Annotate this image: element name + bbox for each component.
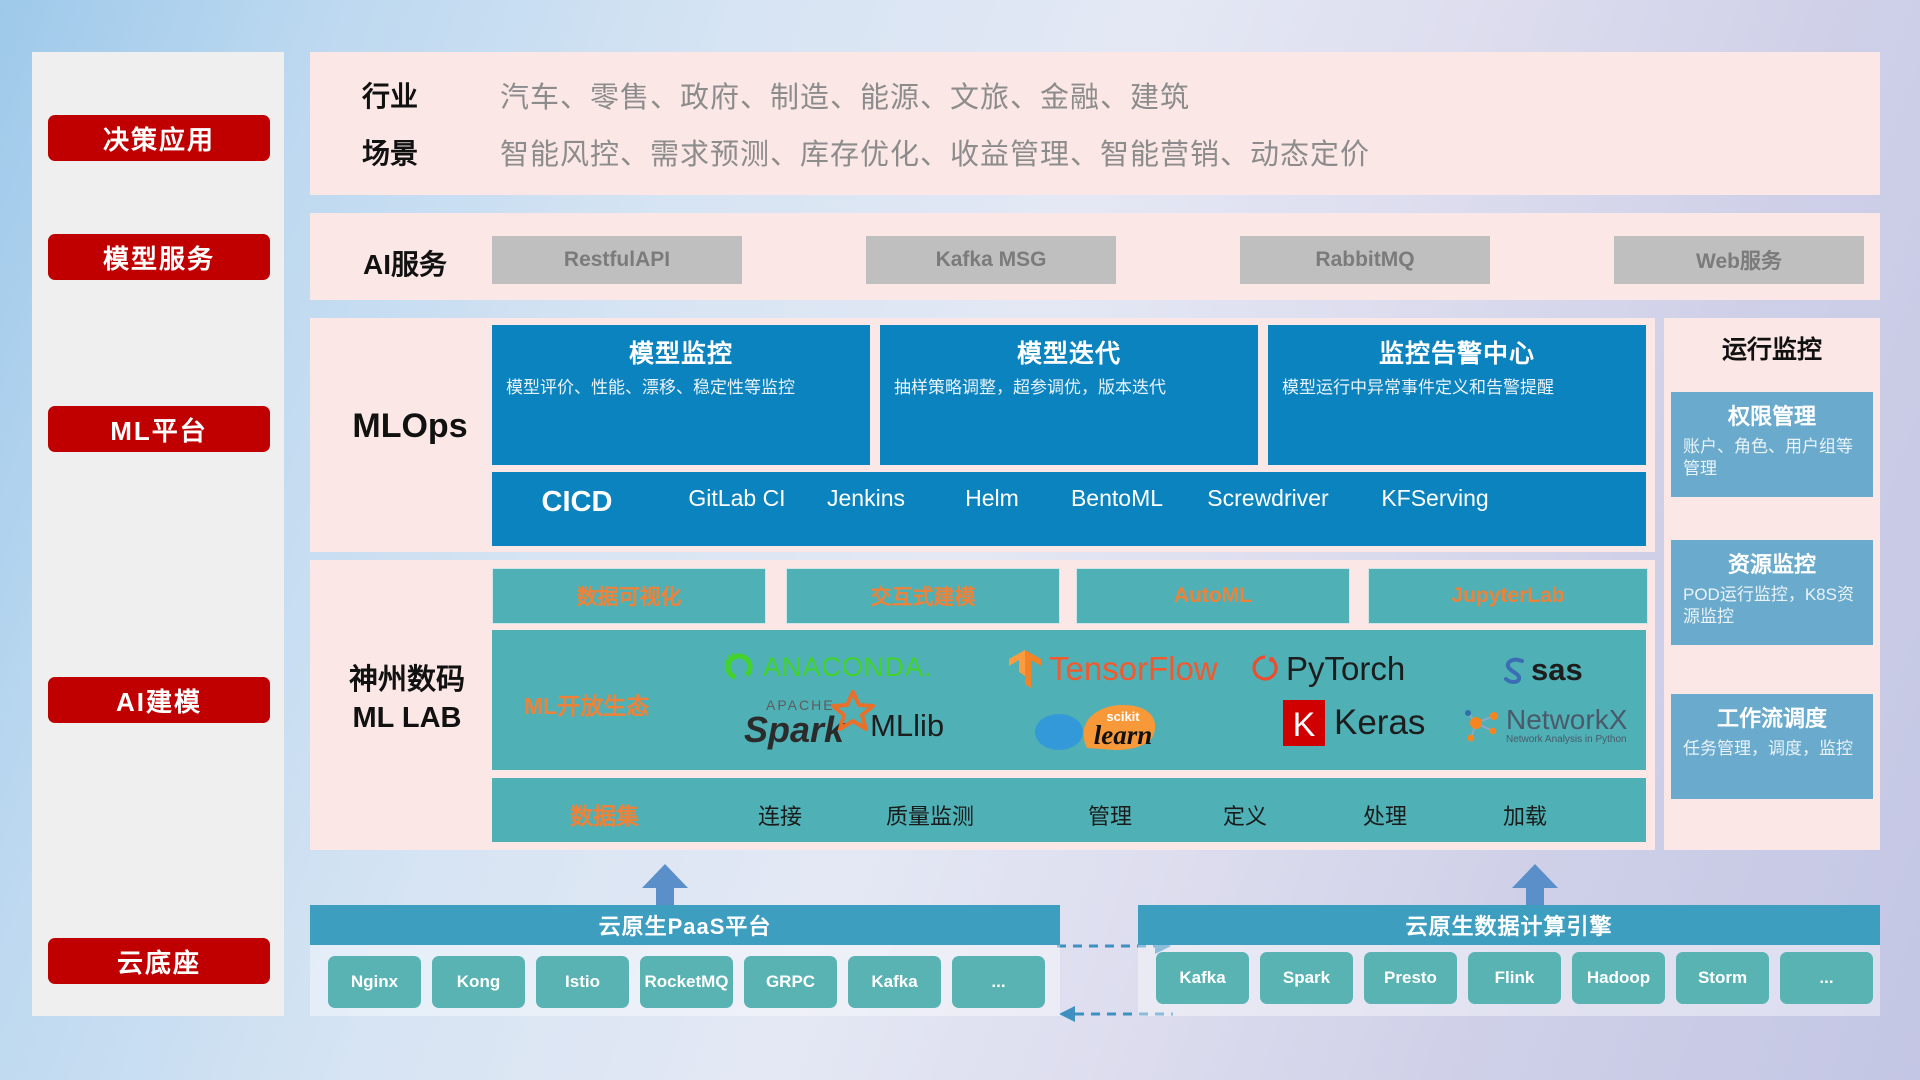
card-title: 监控告警中心 — [1268, 334, 1646, 370]
dataset-item-load[interactable]: 加载 — [1470, 799, 1580, 831]
cicd-item-bentoml[interactable]: BentoML — [1062, 486, 1172, 512]
decision-app-row-label-scenario: 场景 — [330, 132, 450, 172]
cicd-row: CICD GitLab CI Jenkins Helm BentoML Scre… — [492, 472, 1646, 546]
diagram-canvas: 决策应用 模型服务 ML平台 AI建模 云底座 行业 汽车、零售、政府、制造、能… — [0, 0, 1920, 1080]
keras-icon: K — [1283, 700, 1325, 746]
mlops-label: MLOps — [330, 407, 490, 446]
pytorch-logo: PyTorch — [1250, 650, 1405, 688]
run-monitor-title: 运行监控 — [1664, 330, 1880, 366]
sas-icon — [1498, 654, 1530, 686]
dataset-item-process[interactable]: 处理 — [1330, 799, 1440, 831]
ml-lab-label: 神州数码 ML LAB — [322, 662, 492, 737]
card-title: 模型监控 — [492, 334, 870, 370]
card-title: 工作流调度 — [1671, 701, 1873, 733]
rail-item-decision-app[interactable]: 决策应用 — [48, 115, 270, 161]
ai-service-item-web-service[interactable]: Web服务 — [1614, 236, 1864, 284]
dataset-item-quality[interactable]: 质量监测 — [850, 799, 1010, 831]
keras-logo: K Keras — [1283, 700, 1425, 746]
run-monitor-card-resource[interactable]: 资源监控 POD运行监控，K8S资源监控 — [1671, 540, 1873, 645]
decision-app-row-label-industry: 行业 — [330, 75, 450, 115]
scikit-learn-logo: scikit learn — [1035, 702, 1180, 754]
ai-service-item-rabbitmq[interactable]: RabbitMQ — [1240, 236, 1490, 284]
card-desc: 模型运行中异常事件定义和告警提醒 — [1282, 377, 1634, 399]
pytorch-icon — [1250, 652, 1280, 686]
rail-item-ml-platform[interactable]: ML平台 — [48, 406, 270, 452]
data-engine-chip-hadoop[interactable]: Hadoop — [1572, 952, 1665, 1004]
ml-lab-tab-data-visualization[interactable]: 数据可视化 — [492, 568, 766, 624]
paas-chip-istio[interactable]: Istio — [536, 956, 629, 1008]
decision-app-industry-value: 汽车、零售、政府、制造、能源、文旅、金融、建筑 — [500, 74, 1190, 116]
data-engine-chip-more[interactable]: ... — [1780, 952, 1873, 1004]
data-engine-chip-flink[interactable]: Flink — [1468, 952, 1561, 1004]
ml-lab-tab-automl[interactable]: AutoML — [1076, 568, 1350, 624]
svg-text:K: K — [1293, 706, 1316, 744]
dataset-label: 数据集 — [570, 797, 639, 831]
paas-chip-kong[interactable]: Kong — [432, 956, 525, 1008]
cicd-item-screwdriver[interactable]: Screwdriver — [1192, 486, 1344, 512]
left-rail — [32, 52, 284, 1016]
run-monitor-card-workflow[interactable]: 工作流调度 任务管理，调度，监控 — [1671, 694, 1873, 799]
card-desc: 任务管理，调度，监控 — [1683, 738, 1863, 760]
tensorflow-logo: TensorFlow — [1005, 648, 1218, 690]
anaconda-logo: ANACONDA. — [722, 650, 933, 684]
ml-ecosystem-label: ML开放生态 — [524, 687, 649, 721]
data-engine-chip-presto[interactable]: Presto — [1364, 952, 1457, 1004]
mlops-card-model-iteration[interactable]: 模型迭代 抽样策略调整，超参调优，版本迭代 — [880, 325, 1258, 465]
data-engine-title: 云原生数据计算引擎 — [1138, 905, 1880, 945]
card-title: 权限管理 — [1671, 399, 1873, 431]
paas-chip-rocketmq[interactable]: RocketMQ — [640, 956, 733, 1008]
run-monitor-card-permission[interactable]: 权限管理 账户、角色、用户组等管理 — [1671, 392, 1873, 497]
ml-lab-tab-interactive-modeling[interactable]: 交互式建模 — [786, 568, 1060, 624]
data-engine-chip-spark[interactable]: Spark — [1260, 952, 1353, 1004]
mlops-card-model-monitoring[interactable]: 模型监控 模型评价、性能、漂移、稳定性等监控 — [492, 325, 870, 465]
card-desc: POD运行监控，K8S资源监控 — [1683, 584, 1863, 628]
decision-app-scenario-value: 智能风控、需求预测、库存优化、收益管理、智能营销、动态定价 — [500, 131, 1370, 173]
cicd-item-helm[interactable]: Helm — [932, 486, 1052, 512]
card-title: 资源监控 — [1671, 547, 1873, 579]
dataset-item-define[interactable]: 定义 — [1190, 799, 1300, 831]
ai-service-label: AI服务 — [330, 243, 480, 283]
ml-lab-tab-jupyterlab[interactable]: JupyterLab — [1368, 568, 1648, 624]
dataset-item-connect[interactable]: 连接 — [725, 799, 835, 831]
spark-mllib-logo: APACHE Spark MLlib — [744, 700, 944, 751]
cicd-head: CICD — [502, 486, 652, 518]
paas-chip-nginx[interactable]: Nginx — [328, 956, 421, 1008]
mlops-card-alert-center[interactable]: 监控告警中心 模型运行中异常事件定义和告警提醒 — [1268, 325, 1646, 465]
tensorflow-icon — [1005, 648, 1045, 690]
spark-star-icon — [830, 688, 876, 734]
data-engine-chip-kafka[interactable]: Kafka — [1156, 952, 1249, 1004]
card-desc: 模型评价、性能、漂移、稳定性等监控 — [506, 377, 858, 399]
anaconda-icon — [722, 650, 756, 684]
scikit-learn-icon: scikit learn — [1035, 702, 1180, 754]
rail-item-cloud-base[interactable]: 云底座 — [48, 938, 270, 984]
ai-service-item-restfulapi[interactable]: RestfulAPI — [492, 236, 742, 284]
card-desc: 账户、角色、用户组等管理 — [1683, 436, 1863, 480]
svg-text:learn: learn — [1094, 720, 1153, 750]
rail-item-ai-modeling[interactable]: AI建模 — [48, 677, 270, 723]
card-desc: 抽样策略调整，超参调优，版本迭代 — [894, 377, 1246, 399]
networkx-icon — [1462, 707, 1502, 745]
ai-service-item-kafka-msg[interactable]: Kafka MSG — [866, 236, 1116, 284]
cicd-item-jenkins[interactable]: Jenkins — [822, 486, 910, 512]
data-engine-chip-storm[interactable]: Storm — [1676, 952, 1769, 1004]
paas-title: 云原生PaaS平台 — [310, 905, 1060, 945]
ml-lab-label-line1: 神州数码 — [349, 664, 465, 696]
cicd-item-gitlab-ci[interactable]: GitLab CI — [662, 486, 812, 512]
dataset-item-manage[interactable]: 管理 — [1055, 799, 1165, 831]
sas-logo: sas — [1498, 652, 1583, 688]
paas-chip-grpc[interactable]: GRPC — [744, 956, 837, 1008]
paas-chip-kafka[interactable]: Kafka — [848, 956, 941, 1008]
paas-chip-more[interactable]: ... — [952, 956, 1045, 1008]
card-title: 模型迭代 — [880, 334, 1258, 370]
networkx-logo: NetworkX Network Analysis in Python — [1462, 706, 1627, 745]
rail-item-model-service[interactable]: 模型服务 — [48, 234, 270, 280]
cicd-item-kfserving[interactable]: KFServing — [1370, 486, 1500, 512]
ml-lab-label-line2: ML LAB — [352, 702, 461, 734]
